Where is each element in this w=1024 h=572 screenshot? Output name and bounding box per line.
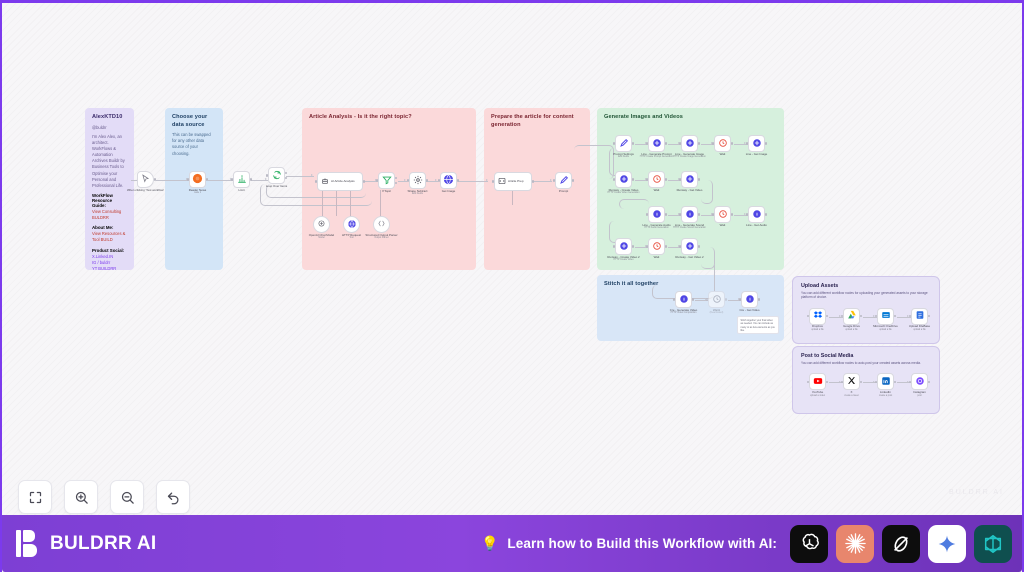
node-label: Runway - Create Video HTTP Create Video … <box>603 189 645 196</box>
cta-text: Learn how to Build this Workflow with AI… <box>507 536 777 551</box>
node-label: Shape Subtract Edit Fields <box>408 190 428 197</box>
filebase-icon <box>915 310 925 322</box>
sticky-body: This can be swapped for any other data s… <box>172 132 216 157</box>
node-title: Article Prep <box>508 180 524 184</box>
clock-icon <box>712 294 722 306</box>
node-creatomate-get-video[interactable]: Cre - Get Video <box>741 291 758 308</box>
connector <box>532 181 552 182</box>
instagram-icon <box>915 376 925 388</box>
node-port[interactable] <box>613 142 615 144</box>
dropbox-icon <box>813 310 823 322</box>
linkedin-icon <box>881 376 891 388</box>
node-port[interactable] <box>758 298 760 300</box>
node-sublabel: post <box>913 395 926 398</box>
node-upload-filebase[interactable]: Upload FileBase upload a file <box>911 308 928 325</box>
node-port[interactable] <box>532 180 534 182</box>
node-label: Cre - Get Video <box>729 309 771 313</box>
node-create-image-prompt[interactable]: Line - Generate Prompt HTTP Create Promp… <box>648 135 665 152</box>
zoom-out-icon <box>120 490 135 505</box>
node-label-text: Line - Generate Image <box>675 152 704 156</box>
node-label-text: Instagram <box>913 390 926 394</box>
node-port[interactable] <box>572 179 574 181</box>
connector <box>380 190 381 216</box>
sticky-title: Article Analysis - Is it the right topic… <box>309 114 469 122</box>
loop-icon <box>272 170 282 182</box>
node-label: Instagram post <box>913 391 926 398</box>
node-port[interactable] <box>807 381 809 383</box>
node-label: Prompt <box>559 190 568 194</box>
node-sublabel: HTTP Create Video Generation <box>603 192 645 195</box>
plus-circle-icon <box>619 174 629 186</box>
node-label: Loop Over Items <box>256 185 298 189</box>
node-port[interactable] <box>894 381 896 383</box>
connector-arrow <box>486 179 488 181</box>
node-label: Runway - Create Video 2 HTTP Create Vide… <box>603 256 645 263</box>
node-wait-4[interactable]: Wait <box>648 238 665 255</box>
node-label: Reader News node 1 <box>189 189 207 196</box>
node-sublabel: create a tweet <box>844 395 858 398</box>
node-label: Line - Generate Image HTTP Create Image … <box>669 153 711 160</box>
node-x-twitter[interactable]: X create a tweet <box>843 373 860 390</box>
sticky-title: Generate Images and Videos <box>604 114 777 122</box>
node-port[interactable] <box>875 381 877 383</box>
node-microsoft-onedrive[interactable]: Microsoft OneDrive upload a file <box>877 308 894 325</box>
lightbulb-icon: 💡 <box>481 535 498 552</box>
zoom-in-icon <box>74 490 89 505</box>
connector-curve <box>701 180 713 204</box>
app-window: AlexKTD10 @buldrr I'm Alex Alex, an arch… <box>0 0 1024 572</box>
node-port[interactable] <box>266 174 268 176</box>
panel-post-social-media[interactable]: Post to Social Media You can add differe… <box>792 346 940 414</box>
node-port[interactable] <box>646 178 648 180</box>
node-generate-image[interactable]: Line - Generate Image HTTP Create Image … <box>681 135 698 152</box>
node-http-image[interactable]: Get Image <box>440 172 457 189</box>
node-port[interactable] <box>492 180 494 182</box>
node-port[interactable] <box>665 142 667 144</box>
node-label-text: Runway - Create Video 2 <box>607 255 639 259</box>
node-label: Wait <box>720 153 726 157</box>
node-line-get-audio[interactable]: Line - Get Audio <box>748 206 765 223</box>
connector-curve <box>701 247 715 269</box>
cursor-icon <box>141 174 150 185</box>
node-sublabel: node 1 <box>189 192 207 195</box>
node-runway-create-video-2[interactable]: Runway - Create Video 2 HTTP Create Vide… <box>615 238 632 255</box>
brand-name: BULDRR AI <box>50 533 157 555</box>
info-icon <box>752 209 762 221</box>
connector <box>458 181 488 182</box>
node-creatomate-generate-video[interactable]: Cre - Generate Video HTTP Video Composit… <box>675 291 692 308</box>
connector-arrow <box>435 179 437 181</box>
sticky-subtitle: @buldrr <box>92 125 127 131</box>
http-icon <box>347 219 357 231</box>
clock-icon <box>652 174 662 186</box>
node-sublabel: upload a file <box>909 329 930 332</box>
connector <box>350 190 351 216</box>
node-wait-1[interactable]: Wait <box>714 135 731 152</box>
node-port[interactable] <box>746 213 748 215</box>
globe-icon <box>443 174 454 187</box>
fit-screen-icon <box>28 490 43 505</box>
panel-title: Post to Social Media <box>801 353 931 359</box>
sticky-link2[interactable]: View Resources & Tool BUILD <box>92 231 127 243</box>
node-port[interactable] <box>665 178 667 180</box>
youtube-icon <box>813 376 823 388</box>
node-sublabel: upload a file <box>873 329 898 332</box>
openai-icon <box>317 219 326 230</box>
node-sublabel: create a post <box>879 395 892 398</box>
clock-icon <box>652 241 662 253</box>
node-sublabel: upload a file <box>811 329 823 332</box>
node-label-text: LinkedIn <box>880 390 891 394</box>
sticky-sub3: Product Social: <box>92 248 127 253</box>
node-port[interactable] <box>712 142 714 144</box>
node-port[interactable] <box>731 213 733 215</box>
node-port[interactable] <box>731 142 733 144</box>
node-label-text: Line - Generate Sound <box>675 223 704 227</box>
node-sublabel: HTTP Create Sound Generation <box>669 227 711 230</box>
node-port[interactable] <box>632 245 634 247</box>
node-label: LinkedIn create a post <box>879 391 892 398</box>
node-label-text: Upload FileBase <box>909 324 930 328</box>
node-port[interactable] <box>285 172 287 174</box>
node-label: YouTube upload a video <box>810 391 825 398</box>
node-port[interactable] <box>698 213 700 215</box>
node-label-text: Dropbox <box>812 324 823 328</box>
node-if[interactable]: If Topic <box>378 172 395 189</box>
node-port[interactable] <box>739 298 741 300</box>
panel-subtitle: You can add different workflow nodes for… <box>801 291 931 300</box>
zoom-in-button[interactable] <box>64 480 98 514</box>
node-port[interactable] <box>407 179 409 181</box>
perplexity-logo[interactable] <box>974 525 1012 563</box>
connector <box>322 190 323 216</box>
sticky-link3-c[interactable]: YT BUILDRR <box>92 266 127 270</box>
panel-upload-assets[interactable]: Upload Assets You can add different work… <box>792 276 940 344</box>
reset-icon <box>166 490 181 505</box>
node-label: Google Drive upload a file <box>843 325 860 332</box>
node-port[interactable] <box>712 213 714 215</box>
node-loop-over-items[interactable]: Loop Over Items <box>268 167 285 184</box>
info-icon <box>652 209 662 221</box>
robot-icon <box>321 177 329 187</box>
node-sublabel: upload a video <box>810 395 825 398</box>
node-label-text: Microsoft OneDrive <box>873 324 898 328</box>
node-port[interactable] <box>438 179 440 181</box>
node-port[interactable] <box>679 213 681 215</box>
connector <box>286 176 314 177</box>
filter-icon <box>382 175 392 187</box>
node-port[interactable] <box>646 245 648 247</box>
node-label: Wait <box>720 224 726 228</box>
sticky-sub1: WorkFlow Resource Guide: <box>92 193 127 208</box>
node-port[interactable] <box>665 213 667 215</box>
node-port[interactable] <box>725 298 727 300</box>
node-label-text: Runway - Get Video 2 <box>675 255 703 259</box>
grok-logo[interactable] <box>882 525 920 563</box>
node-label-text: Runway - Create Video <box>609 188 639 192</box>
node-instagram[interactable]: Instagram post <box>911 373 928 390</box>
node-label: Wait <box>654 189 660 193</box>
rss-icon <box>192 173 203 186</box>
gemini-logo[interactable] <box>928 525 966 563</box>
panel-title: Upload Assets <box>801 283 931 289</box>
node-port[interactable] <box>231 178 233 180</box>
node-port[interactable] <box>679 178 681 180</box>
workflow-canvas[interactable]: AlexKTD10 @buldrr I'm Alex Alex, an arch… <box>2 3 1022 518</box>
node-port[interactable] <box>154 178 156 180</box>
plus-circle-icon <box>685 174 695 186</box>
google-drive-icon <box>847 310 857 322</box>
brand: BULDRR AI <box>16 530 157 557</box>
node-label: Structured Output Parser Output Parser <box>361 234 403 241</box>
node-port[interactable] <box>706 298 708 300</box>
fit-to-view-button[interactable] <box>18 480 52 514</box>
node-http-request-tool[interactable]: HTTP Request Tool <box>343 216 360 233</box>
node-sublabel: HTTP Create Image Generation <box>669 156 711 159</box>
node-port[interactable] <box>698 142 700 144</box>
node-port[interactable] <box>613 245 615 247</box>
connector-arrow <box>550 179 552 181</box>
node-sublabel: (Deactivated) <box>696 312 738 315</box>
node-port[interactable] <box>363 180 365 182</box>
node-structured-output-parser[interactable]: Structured Output Parser Output Parser <box>373 216 390 233</box>
node-port[interactable] <box>860 315 862 317</box>
node-wait-2[interactable]: Wait <box>648 171 665 188</box>
plus-circle-icon <box>619 241 629 253</box>
node-port[interactable] <box>632 178 634 180</box>
node-sublabel: upload a file <box>843 329 860 332</box>
stitch-annotation: Stitch together your final video as need… <box>737 316 779 334</box>
node-label: Limit <box>238 189 244 193</box>
node-label-text: Wait1 <box>713 308 720 312</box>
canvas-watermark: BULDRR AI <box>949 489 1004 496</box>
pen-icon <box>559 175 569 187</box>
connector-arrow <box>311 174 313 176</box>
connector-arrow <box>265 178 267 180</box>
node-port[interactable] <box>285 177 287 179</box>
plus-circle-icon <box>685 241 695 253</box>
node-port[interactable] <box>679 245 681 247</box>
info-icon <box>745 294 755 306</box>
ai-logo-group <box>790 525 1012 563</box>
node-label: Get Image <box>442 190 456 194</box>
node-ai-agent[interactable]: AI Article Analysis <box>317 172 363 191</box>
node-port[interactable] <box>698 245 700 247</box>
node-port[interactable] <box>826 381 828 383</box>
openai-logo[interactable] <box>790 525 828 563</box>
node-label: Wait <box>654 256 660 260</box>
node-sublabel: Output Parser <box>361 237 403 240</box>
node-label-text: YouTube <box>812 390 823 394</box>
node-wait-3[interactable]: Wait <box>714 206 731 223</box>
node-linkedin[interactable]: LinkedIn create a post <box>877 373 894 390</box>
node-port[interactable] <box>860 381 862 383</box>
limit-icon <box>237 174 247 186</box>
node-limit[interactable]: Limit <box>233 171 250 188</box>
node-port[interactable] <box>613 178 615 180</box>
gear-icon <box>413 175 423 187</box>
code-icon <box>498 177 506 187</box>
node-port[interactable] <box>928 315 930 317</box>
node-port[interactable] <box>553 179 555 181</box>
connector <box>156 180 189 181</box>
node-port[interactable] <box>426 179 428 181</box>
node-label: X create a tweet <box>844 391 858 398</box>
sticky-title: AlexKTD10 <box>92 114 127 122</box>
sticky-sub2: About Me: <box>92 225 127 230</box>
node-port[interactable] <box>807 315 809 317</box>
node-label: When clicking 'Test workflow' <box>125 189 167 193</box>
node-wait-stitch[interactable]: Wait1 (Deactivated) <box>708 291 725 308</box>
node-runway-get-video[interactable]: Runway - Get Video <box>681 171 698 188</box>
reset-zoom-button[interactable] <box>156 480 190 514</box>
info-icon <box>685 209 695 221</box>
node-code-article-prep[interactable]: Article Prep <box>494 172 532 191</box>
node-label: If Topic <box>382 190 391 194</box>
node-port[interactable] <box>457 179 459 181</box>
node-label-text: Reader News <box>189 188 207 192</box>
node-youtube[interactable]: YouTube upload a video <box>809 373 826 390</box>
plus-circle-icon <box>685 138 695 150</box>
sticky-title: Choose your data source <box>172 114 216 129</box>
claude-logo[interactable] <box>836 525 874 563</box>
cta-group: 💡 Learn how to Build this Workflow with … <box>481 525 1012 563</box>
node-label: Dropbox upload a file <box>811 325 823 332</box>
x-icon <box>847 376 856 387</box>
clock-icon <box>718 138 728 150</box>
connector <box>336 190 337 216</box>
node-openai-chat-model[interactable]: OpenAI Chat Model Model <box>313 216 330 233</box>
node-line-generate-sound[interactable]: Line - Generate Sound HTTP Create Sound … <box>681 206 698 223</box>
node-label-text: Cre - Generate Video <box>670 308 697 312</box>
sticky-title: Prepare the article for content generati… <box>491 114 583 129</box>
node-port[interactable] <box>909 381 911 383</box>
plus-circle-icon <box>652 138 662 150</box>
buldrr-logo-icon <box>16 530 41 557</box>
sticky-body: I'm Alex Alex, an architect. WorkFlows &… <box>92 134 127 189</box>
node-runway-get-video-2[interactable]: Runway - Get Video 2 <box>681 238 698 255</box>
node-manual-trigger[interactable]: When clicking 'Test workflow' <box>137 171 154 188</box>
node-port[interactable] <box>632 142 634 144</box>
node-port[interactable] <box>841 381 843 383</box>
node-title: AI Article Analysis <box>331 180 355 184</box>
node-edit-fields[interactable]: Shape Subtract Edit Fields <box>409 172 426 189</box>
node-port[interactable] <box>765 213 767 215</box>
node-port[interactable] <box>826 315 828 317</box>
node-google-drive[interactable]: Google Drive upload a file <box>843 308 860 325</box>
node-label: Line - Get Image <box>736 153 778 157</box>
bottom-branding-bar: BULDRR AI 💡 Learn how to Build this Work… <box>2 515 1022 572</box>
node-line-generate-audio[interactable]: Line - Generate Audio HTTP Audio Generat… <box>648 206 665 223</box>
node-port[interactable] <box>698 178 700 180</box>
node-label: Line - Get Audio <box>736 224 778 228</box>
node-port[interactable] <box>646 213 648 215</box>
node-port[interactable] <box>692 298 694 300</box>
node-sublabel: Edit Fields <box>408 193 428 196</box>
node-prompt-edit[interactable]: Prompt <box>555 172 572 189</box>
node-port[interactable] <box>894 315 896 317</box>
node-label-text: Shape Subtract <box>408 189 428 193</box>
plus-circle-icon <box>752 138 762 150</box>
node-runway-create-video[interactable]: Runway - Create Video HTTP Create Video … <box>615 171 632 188</box>
node-label-text: Structured Output Parser <box>365 233 397 237</box>
connector-curve <box>574 145 614 179</box>
node-sublabel: HTTP Create Video <box>603 259 645 262</box>
canvas-toolbar <box>18 480 190 514</box>
node-port[interactable] <box>928 381 930 383</box>
node-label-text: HTTP Request <box>342 233 361 237</box>
connector-curve <box>619 199 649 209</box>
node-label-text: Line - Generate Audio <box>642 223 670 227</box>
node-label-text: Google Drive <box>843 324 860 328</box>
node-port[interactable] <box>679 142 681 144</box>
node-port[interactable] <box>665 245 667 247</box>
node-rss-read[interactable]: Reader News node 1 <box>189 171 206 188</box>
node-port[interactable] <box>206 178 208 180</box>
node-port[interactable] <box>376 179 378 181</box>
node-dropbox[interactable]: Dropbox upload a file <box>809 308 826 325</box>
node-port[interactable] <box>187 178 189 180</box>
info-icon <box>679 294 689 306</box>
node-port[interactable] <box>746 142 748 144</box>
onedrive-icon <box>881 310 891 322</box>
connector-arrow <box>404 179 406 181</box>
node-label: Microsoft OneDrive upload a file <box>873 325 898 332</box>
sticky-link1[interactable]: View Consulting BULDRR <box>92 209 127 221</box>
zoom-out-button[interactable] <box>110 480 144 514</box>
connector <box>714 265 715 291</box>
connector <box>512 191 513 205</box>
panel-subtitle: You can add different workflow nodes to … <box>801 361 931 365</box>
clock-icon <box>718 209 728 221</box>
node-label-text: Line - Generate Prompt <box>641 152 671 156</box>
node-port[interactable] <box>646 142 648 144</box>
node-port[interactable] <box>765 142 767 144</box>
node-get-image-1[interactable]: Line - Get Image <box>748 135 765 152</box>
parser-icon <box>377 219 386 230</box>
node-label: Upload FileBase upload a file <box>909 325 930 332</box>
node-port[interactable] <box>673 298 675 300</box>
node-label-text: X <box>851 390 853 394</box>
node-port[interactable] <box>315 180 317 182</box>
node-label: Line - Generate Sound HTTP Create Sound … <box>669 224 711 231</box>
node-port[interactable] <box>250 178 252 180</box>
